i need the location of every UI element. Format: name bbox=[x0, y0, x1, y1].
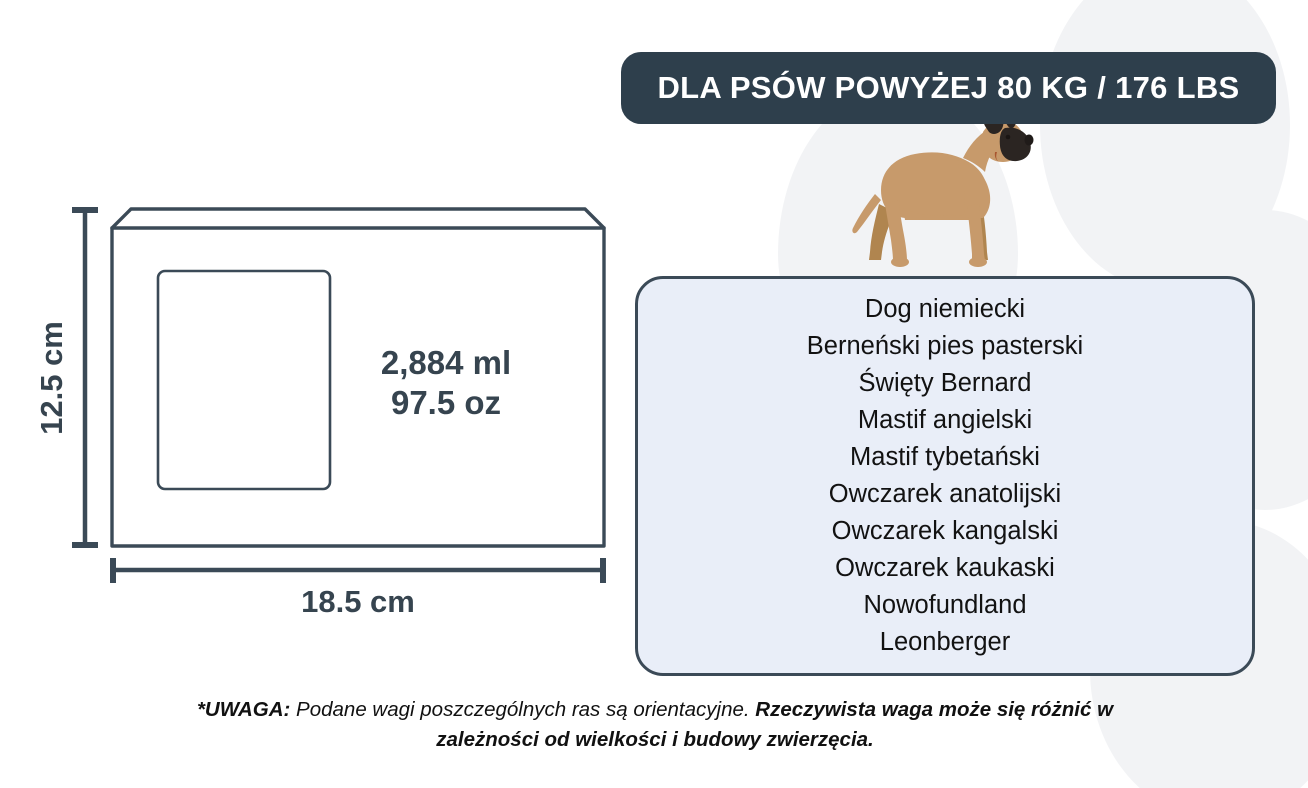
header-banner: DLA PSÓW POWYŻEJ 80 KG / 176 LBS bbox=[621, 52, 1276, 124]
great-dane-dog-icon bbox=[845, 112, 1035, 272]
package-dimensions-diagram: 2,884 ml 97.5 oz 12.5 cm 18.5 cm bbox=[0, 0, 640, 680]
footnote-disclaimer: *UWAGA: Podane wagi poszczególnych ras s… bbox=[180, 695, 1130, 755]
breed-list-box: Dog niemiecki Berneński pies pasterski Ś… bbox=[635, 276, 1255, 676]
footnote-label: *UWAGA: bbox=[197, 698, 290, 721]
box-top-lid bbox=[112, 209, 604, 228]
dog-eye bbox=[1006, 135, 1011, 140]
breed-item: Owczarek kangalski bbox=[832, 513, 1059, 550]
dog-rear-paw bbox=[891, 257, 909, 267]
breed-item: Mastif angielski bbox=[858, 402, 1032, 439]
footnote-regular-text: Podane wagi poszczególnych ras są orient… bbox=[290, 698, 755, 721]
breed-item: Nowofundland bbox=[863, 587, 1026, 624]
dog-body-group bbox=[852, 112, 1033, 267]
dog-muzzle-mask bbox=[1000, 128, 1031, 161]
header-title: DLA PSÓW POWYŻEJ 80 KG / 176 LBS bbox=[657, 70, 1239, 106]
volume-oz-label: 97.5 oz bbox=[391, 384, 501, 421]
breed-item: Owczarek anatolijski bbox=[829, 476, 1061, 513]
dog-front-paw bbox=[969, 257, 987, 267]
breed-item: Owczarek kaukaski bbox=[835, 550, 1055, 587]
height-dimension-line bbox=[72, 209, 98, 546]
volume-ml-label: 2,884 ml bbox=[381, 344, 511, 381]
breed-item: Święty Bernard bbox=[859, 365, 1032, 402]
breed-item: Mastif tybetański bbox=[850, 439, 1040, 476]
infographic-canvas: 2,884 ml 97.5 oz 12.5 cm 18.5 cm DLA PSÓ… bbox=[0, 0, 1308, 788]
width-label: 18.5 cm bbox=[301, 584, 415, 619]
breed-item: Leonberger bbox=[880, 624, 1010, 661]
height-label: 12.5 cm bbox=[34, 321, 69, 435]
breed-item: Dog niemiecki bbox=[865, 291, 1025, 328]
box-window-panel bbox=[158, 271, 330, 489]
dog-nose bbox=[1025, 135, 1034, 146]
width-dimension-line bbox=[112, 558, 604, 583]
breed-item: Berneński pies pasterski bbox=[807, 328, 1083, 365]
